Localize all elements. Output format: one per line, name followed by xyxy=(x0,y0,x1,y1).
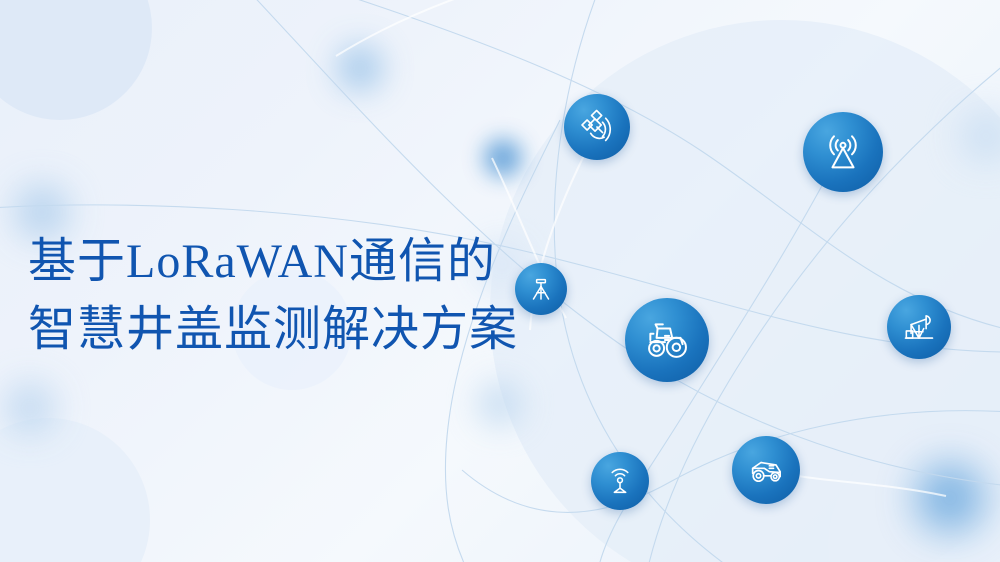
slide-canvas: 基于LoRaWAN通信的 智慧井盖监测解决方案 xyxy=(0,0,1000,562)
satellite-icon[interactable] xyxy=(564,94,630,160)
blob-top-mid xyxy=(338,46,382,90)
blob-right-edge xyxy=(960,110,1000,162)
tractor-icon[interactable] xyxy=(625,298,709,382)
harvester-icon[interactable] xyxy=(732,436,800,504)
oil-pumpjack-icon[interactable] xyxy=(887,295,951,359)
blob-bottom-right xyxy=(916,464,984,532)
page-title: 基于LoRaWAN通信的 智慧井盖监测解决方案 xyxy=(28,228,518,364)
blob-accent xyxy=(484,139,522,177)
lower-left-disc xyxy=(0,418,150,562)
title-line-1: 基于LoRaWAN通信的 xyxy=(28,228,518,296)
title-line-2: 智慧井盖监测解决方案 xyxy=(28,296,518,364)
wireless-sensor-icon[interactable] xyxy=(591,452,649,510)
right-lower-disc xyxy=(828,430,1000,562)
blob-lower-left xyxy=(6,384,54,432)
corner-pale-disc xyxy=(0,0,152,120)
broadcast-tower-icon[interactable] xyxy=(803,112,883,192)
blob-bottom-mid xyxy=(478,382,522,426)
survey-tripod-icon[interactable] xyxy=(515,263,567,315)
